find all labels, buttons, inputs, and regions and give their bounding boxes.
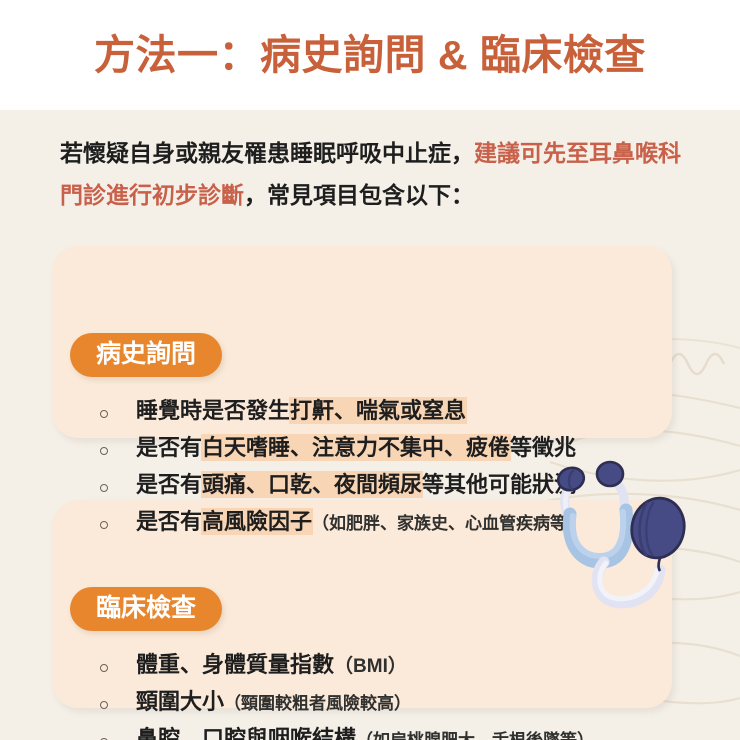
circle-marker-icon [100, 399, 136, 429]
header-banner: 方法一：病史詢問 & 臨床檢查 [0, 0, 740, 110]
infographic-page: 方法一：病史詢問 & 臨床檢查 若懷疑自身或親友罹 [0, 0, 740, 740]
history-bullet-list: 睡覺時是否發生打鼾、喘氣或窒息 是否有白天嗜睡、注意力不集中、疲倦等徵兆 是否有… [100, 396, 670, 544]
circle-marker-icon [100, 510, 136, 540]
list-item: 睡覺時是否發生打鼾、喘氣或窒息 [100, 396, 670, 433]
bullet-note: （如肥胖、家族史、心血管疾病等） [312, 514, 584, 533]
bullet-post: 等其他可能狀況 [422, 472, 576, 497]
badge-history-taking: 病史詢問 [70, 333, 222, 377]
bullet-highlight: 打鼾、喘氣或窒息 [290, 398, 466, 423]
circle-marker-icon [100, 727, 136, 740]
page-title: 方法一：病史詢問 & 臨床檢查 [94, 35, 646, 76]
list-item: 體重、身體質量指數（BMI） [100, 650, 670, 687]
bullet-note: （BMI） [334, 656, 407, 677]
bullet-pre: 是否有 [136, 472, 202, 497]
list-item: 是否有白天嗜睡、注意力不集中、疲倦等徵兆 [100, 433, 670, 470]
bullet-note: （頸圍較粗者風險較高） [224, 694, 411, 713]
bullet-pre: 頸圍大小 [136, 689, 224, 714]
bullet-note: （如扁桃腺肥大、舌根後墜等） [356, 731, 594, 740]
circle-marker-icon [100, 436, 136, 466]
intro-line1-accent: 建議可先至 [474, 140, 589, 166]
bullet-pre: 是否有 [136, 509, 202, 534]
intro-line1-plain: 若懷疑自身或親友罹患睡眠呼吸中止症， [60, 140, 474, 166]
intro-line2-plain: ，常見項目包含以下： [244, 182, 474, 208]
list-item: 是否有頭痛、口乾、夜間頻尿等其他可能狀況 [100, 470, 670, 507]
bullet-highlight: 高風險因子 [202, 509, 312, 534]
circle-marker-icon [100, 690, 136, 720]
list-item: 頸圍大小（頸圍較粗者風險較高） [100, 687, 670, 724]
list-item: 是否有高風險因子（如肥胖、家族史、心血管疾病等） [100, 507, 670, 544]
clinical-bullet-list: 體重、身體質量指數（BMI） 頸圍大小（頸圍較粗者風險較高） 鼻腔、口腔與咽喉結… [100, 650, 670, 740]
content-area: 若懷疑自身或親友罹患睡眠呼吸中止症，建議可先至耳鼻喉科門診進行初步診斷，常見項目… [0, 110, 740, 740]
bullet-post: 等徵兆 [510, 435, 576, 460]
bullet-pre: 鼻腔、口腔與咽喉結構 [136, 726, 356, 740]
intro-paragraph: 若懷疑自身或親友罹患睡眠呼吸中止症，建議可先至耳鼻喉科門診進行初步診斷，常見項目… [60, 132, 700, 216]
badge-clinical-exam: 臨床檢查 [70, 587, 222, 631]
bullet-pre: 體重、身體質量指數 [136, 652, 334, 677]
list-item: 鼻腔、口腔與咽喉結構（如扁桃腺肥大、舌根後墜等） [100, 724, 670, 740]
bullet-pre: 是否有 [136, 435, 202, 460]
circle-marker-icon [100, 473, 136, 503]
circle-marker-icon [100, 653, 136, 683]
bullet-pre: 睡覺時是否發生 [136, 398, 290, 423]
bullet-highlight: 白天嗜睡、注意力不集中、疲倦 [202, 435, 510, 460]
bullet-highlight: 頭痛、口乾、夜間頻尿 [202, 472, 422, 497]
